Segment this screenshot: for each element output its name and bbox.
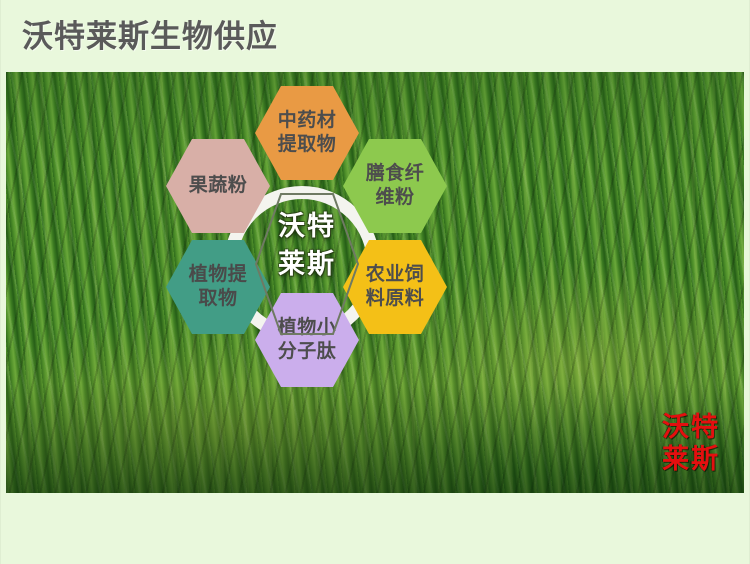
- hex-segment-top[interactable]: 中药材 提取物: [255, 86, 359, 180]
- watermark-line1: 沃特: [662, 411, 720, 443]
- page-title: 沃特莱斯生物供应: [22, 19, 278, 55]
- hex-segment-upper-right-label: 膳食纤 维粉: [362, 162, 429, 210]
- hex-lower-left-line2: 取物: [198, 288, 237, 309]
- hex-bottom-line2: 分子肽: [278, 341, 337, 362]
- hex-segment-lower-left-label: 植物提 取物: [185, 263, 252, 311]
- hex-lower-right-line1: 农业饲: [366, 264, 425, 285]
- hex-segment-upper-left-label: 果蔬粉: [185, 174, 252, 198]
- hex-top-line2: 提取物: [278, 134, 337, 155]
- hex-upper-left-line1: 果蔬粉: [189, 175, 248, 196]
- product-banner-image: 中药材 提取物 膳食纤 维粉 农业饲 料原料: [6, 72, 744, 493]
- hexagon-category-wheel: 中药材 提取物 膳食纤 维粉 农业饲 料原料: [132, 82, 482, 442]
- center-brand-line1: 沃特: [278, 211, 336, 241]
- hex-upper-right-line1: 膳食纤: [366, 163, 425, 184]
- hex-lower-left-line1: 植物提: [189, 264, 248, 285]
- hex-center-brand[interactable]: 沃特 莱斯: [255, 189, 359, 339]
- hex-upper-right-line2: 维粉: [375, 187, 414, 208]
- hex-segment-top-label: 中药材 提取物: [274, 109, 341, 157]
- slide-page: 沃特莱斯生物供应 中药材 提取物 膳食纤 维粉: [0, 0, 750, 564]
- center-brand-line2: 莱斯: [278, 249, 336, 279]
- hex-segment-lower-right-label: 农业饲 料原料: [362, 263, 429, 311]
- center-brand-label: 沃特 莱斯: [255, 207, 359, 283]
- brand-watermark: 沃特 莱斯: [662, 411, 720, 475]
- footer-band: [0, 493, 750, 564]
- watermark-line2: 莱斯: [662, 443, 720, 475]
- header-band: 沃特莱斯生物供应: [0, 0, 750, 72]
- hex-lower-right-line2: 料原料: [366, 288, 425, 309]
- hex-top-line1: 中药材: [278, 110, 337, 131]
